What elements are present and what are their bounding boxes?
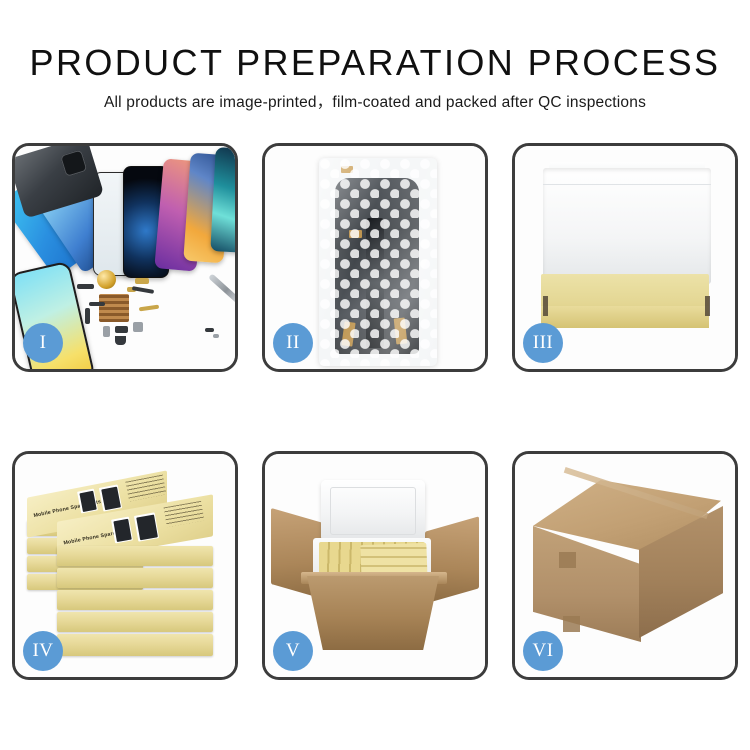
step-badge-3: III xyxy=(523,323,563,363)
circuit-board-icon xyxy=(99,294,129,322)
process-step-panel-5: V xyxy=(262,451,488,680)
process-step-panel-6: VI xyxy=(512,451,738,680)
screw-icon xyxy=(213,334,219,338)
carton-tab xyxy=(563,616,580,632)
page-subtitle: All products are image-printed，film-coat… xyxy=(0,93,750,113)
coil-part-icon xyxy=(97,270,116,289)
step-badge-5: V xyxy=(273,631,313,671)
stacked-box xyxy=(57,546,213,566)
stacked-box xyxy=(57,634,213,656)
chip-part-icon xyxy=(115,326,128,333)
screw-icon xyxy=(205,328,214,332)
process-step-panel-1: I xyxy=(12,143,238,372)
chip-part-icon xyxy=(89,302,105,306)
chip-part-icon xyxy=(77,284,94,289)
step-badge-4: IV xyxy=(23,631,63,671)
box-corner-shadow xyxy=(543,296,548,316)
stacked-box xyxy=(57,568,213,588)
white-foam-sheet-icon xyxy=(543,168,711,284)
foam-lid-icon xyxy=(321,480,425,542)
chip-part-icon xyxy=(115,336,126,345)
step-badge-6: VI xyxy=(523,631,563,671)
process-step-panel-3: III xyxy=(512,143,738,372)
header: PRODUCT PREPARATION PROCESS All products… xyxy=(0,42,750,113)
process-step-grid: I II xyxy=(12,143,738,680)
bubble-wrap-bag-icon xyxy=(319,158,437,366)
chip-part-icon xyxy=(133,322,143,332)
box-corner-shadow xyxy=(705,296,710,316)
process-step-panel-4: Mobile Phone Spare Parts Mobile Phone Sp… xyxy=(12,451,238,680)
chip-part-icon xyxy=(103,326,110,337)
screwdriver-icon xyxy=(208,273,238,304)
page-title: PRODUCT PREPARATION PROCESS xyxy=(0,42,750,84)
flex-cable-icon xyxy=(139,305,159,312)
chip-part-icon xyxy=(85,308,90,324)
step-badge-1: I xyxy=(23,323,63,363)
yellow-box-front-panel xyxy=(541,306,709,328)
plastic-sheen xyxy=(319,158,437,366)
chip-part-icon xyxy=(135,278,149,284)
process-step-panel-2: II xyxy=(262,143,488,372)
carton-body-icon xyxy=(307,576,439,650)
stacked-box xyxy=(57,590,213,610)
stacked-box xyxy=(57,612,213,632)
box-window-graphic xyxy=(111,517,133,544)
teal-phone-icon xyxy=(210,147,238,253)
product-preparation-infographic: PRODUCT PREPARATION PROCESS All products… xyxy=(0,0,750,750)
step-badge-2: II xyxy=(273,323,313,363)
carton-tab xyxy=(559,552,576,568)
box-window-graphic xyxy=(134,512,159,541)
flex-cable-icon xyxy=(132,286,154,294)
